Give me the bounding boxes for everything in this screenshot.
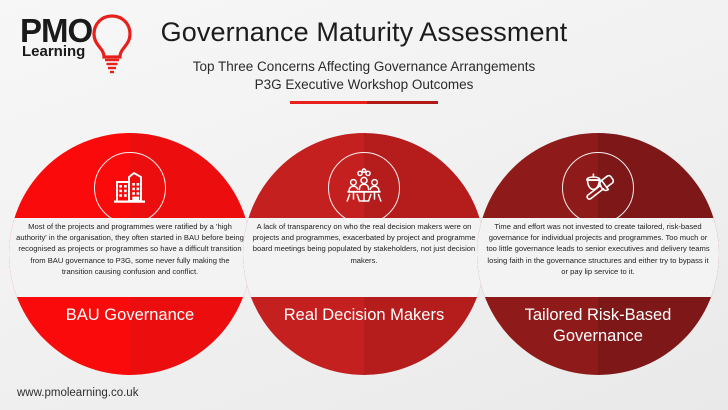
subtitle-line-1: Top Three Concerns Affecting Governance … — [0, 58, 728, 76]
title-block: Governance Maturity Assessment Top Three… — [0, 0, 728, 104]
concern-label: BAU Governance — [25, 305, 235, 326]
footer-url: www.pmolearning.co.uk — [17, 387, 138, 399]
meeting-table-icon — [328, 152, 400, 224]
concern-body-text: Time and effort was not invested to crea… — [483, 221, 713, 277]
concern-body-text: Most of the projects and programmes were… — [15, 221, 245, 277]
concern-column-bau-governance: Most of the projects and programmes were… — [9, 133, 251, 377]
title-divider-rule — [290, 101, 438, 104]
slide-canvas: PMO Learning Governance Maturity Assessm… — [0, 0, 728, 410]
concern-column-real-decision-makers: A lack of transparency on who the real d… — [243, 133, 485, 377]
subtitle-line-2: P3G Executive Workshop Outcomes — [0, 76, 728, 94]
concern-body-text: A lack of transparency on who the real d… — [249, 221, 479, 266]
acorn-hammer-icon — [562, 152, 634, 224]
concern-label: Tailored Risk-Based Governance — [493, 305, 703, 347]
concern-label: Real Decision Makers — [259, 305, 469, 326]
concern-column-tailored-risk-based-governance: Time and effort was not invested to crea… — [477, 133, 719, 377]
office-building-icon — [94, 152, 166, 224]
page-title: Governance Maturity Assessment — [0, 18, 728, 48]
